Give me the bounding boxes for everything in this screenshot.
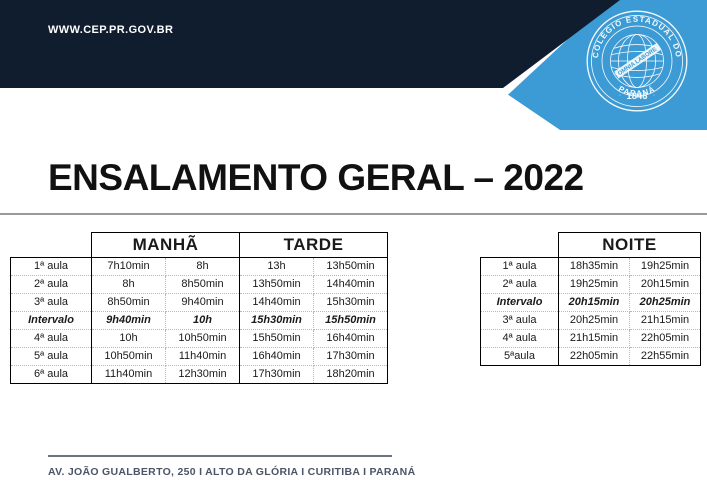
- time-cell: 8h50min: [92, 294, 166, 312]
- time-cell: 16h40min: [314, 330, 388, 348]
- seal-arc-top-text: COLÉGIO ESTADUAL DO: [591, 15, 683, 59]
- time-cell: 21h15min: [630, 312, 701, 330]
- period-header-tarde: TARDE: [240, 233, 388, 258]
- time-cell: 11h40min: [92, 366, 166, 384]
- table-left-head: MANHÃ TARDE: [11, 233, 388, 258]
- time-cell: 20h15min: [559, 294, 630, 312]
- time-cell: 17h30min: [240, 366, 314, 384]
- time-cell: 10h: [92, 330, 166, 348]
- time-cell: 15h50min: [240, 330, 314, 348]
- table-row: 5ª aula10h50min11h40min16h40min17h30min: [11, 348, 388, 366]
- row-label-cell: 4ª aula: [481, 330, 559, 348]
- period-header-noite: NOITE: [559, 233, 701, 258]
- time-cell: 22h05min: [559, 348, 630, 366]
- time-cell: 20h25min: [630, 294, 701, 312]
- time-cell: 14h40min: [240, 294, 314, 312]
- time-cell: 11h40min: [166, 348, 240, 366]
- time-cell: 8h: [166, 258, 240, 276]
- time-cell: 18h20min: [314, 366, 388, 384]
- time-cell: 22h55min: [630, 348, 701, 366]
- table-right-corner-cell: [481, 233, 559, 258]
- row-label-cell: 3ª aula: [481, 312, 559, 330]
- table-row: 4ª aula21h15min22h05min: [481, 330, 701, 348]
- time-cell: 20h25min: [559, 312, 630, 330]
- time-cell: 19h25min: [630, 258, 701, 276]
- time-cell: 10h50min: [92, 348, 166, 366]
- table-row: 3ª aula8h50min9h40min14h40min15h30min: [11, 294, 388, 312]
- time-cell: 10h: [166, 312, 240, 330]
- title-block: ENSALAMENTO GERAL – 2022: [0, 156, 707, 216]
- table-left-corner-cell: [11, 233, 92, 258]
- header-navy-band: [0, 0, 620, 88]
- table-row: 6ª aula11h40min12h30min17h30min18h20min: [11, 366, 388, 384]
- row-label-cell: 2ª aula: [481, 276, 559, 294]
- time-cell: 9h40min: [166, 294, 240, 312]
- table-row: 2ª aula8h8h50min13h50min14h40min: [11, 276, 388, 294]
- page-title: ENSALAMENTO GERAL – 2022: [48, 156, 584, 200]
- time-cell: 20h15min: [630, 276, 701, 294]
- table-row: 3ª aula20h25min21h15min: [481, 312, 701, 330]
- table-left-body: 1ª aula7h10min8h13h13h50min2ª aula8h8h50…: [11, 258, 388, 384]
- table-row: Intervalo9h40min10h15h30min15h50min: [11, 312, 388, 330]
- time-cell: 7h10min: [92, 258, 166, 276]
- site-url-label: WWW.CEP.PR.GOV.BR: [48, 24, 173, 36]
- seal-dot-left: ·: [619, 90, 621, 99]
- table-row: 1ª aula18h35min19h25min: [481, 258, 701, 276]
- table-row: 4ª aula10h10h50min15h50min16h40min: [11, 330, 388, 348]
- row-label-cell: 3ª aula: [11, 294, 92, 312]
- time-cell: 12h30min: [166, 366, 240, 384]
- row-label-cell: 5ª aula: [11, 348, 92, 366]
- time-cell: 19h25min: [559, 276, 630, 294]
- row-label-cell: 1ª aula: [481, 258, 559, 276]
- noite-schedule-table: NOITE 1ª aula18h35min19h25min2ª aula19h2…: [480, 232, 701, 366]
- table-right-head: NOITE: [481, 233, 701, 258]
- time-cell: 15h30min: [240, 312, 314, 330]
- table-row: 2ª aula19h25min20h15min: [481, 276, 701, 294]
- title-divider: [0, 213, 707, 215]
- row-label-cell: 6ª aula: [11, 366, 92, 384]
- time-cell: 8h50min: [166, 276, 240, 294]
- time-cell: 18h35min: [559, 258, 630, 276]
- row-label-cell: 1ª aula: [11, 258, 92, 276]
- time-cell: 22h05min: [630, 330, 701, 348]
- table-row: Intervalo20h15min20h25min: [481, 294, 701, 312]
- row-label-cell: Intervalo: [11, 312, 92, 330]
- time-cell: 17h30min: [314, 348, 388, 366]
- table-left-header-row: MANHÃ TARDE: [11, 233, 388, 258]
- time-cell: 16h40min: [240, 348, 314, 366]
- time-cell: 10h50min: [166, 330, 240, 348]
- time-cell: 9h40min: [92, 312, 166, 330]
- time-cell: 15h30min: [314, 294, 388, 312]
- time-cell: 13h: [240, 258, 314, 276]
- period-header-manha: MANHÃ: [92, 233, 240, 258]
- table-right-body: 1ª aula18h35min19h25min2ª aula19h25min20…: [481, 258, 701, 366]
- seal-dot-right: ·: [653, 90, 655, 99]
- row-label-cell: 4ª aula: [11, 330, 92, 348]
- time-cell: 21h15min: [559, 330, 630, 348]
- table-row: 5ªaula22h05min22h55min: [481, 348, 701, 366]
- time-cell: 13h50min: [240, 276, 314, 294]
- row-label-cell: 5ªaula: [481, 348, 559, 366]
- footer-divider: [48, 455, 392, 457]
- table-right-header-row: NOITE: [481, 233, 701, 258]
- seal-year-text: 1846: [626, 91, 647, 102]
- slide-page: WWW.CEP.PR.GOV.BR: [0, 0, 707, 500]
- table-row: 1ª aula7h10min8h13h13h50min: [11, 258, 388, 276]
- time-cell: 13h50min: [314, 258, 388, 276]
- school-seal-icon: OMNIA LABORE COLÉGIO ESTADUAL DO PARANÁ …: [584, 8, 690, 114]
- manha-tarde-schedule-table: MANHÃ TARDE 1ª aula7h10min8h13h13h50min2…: [10, 232, 388, 384]
- row-label-cell: Intervalo: [481, 294, 559, 312]
- time-cell: 8h: [92, 276, 166, 294]
- row-label-cell: 2ª aula: [11, 276, 92, 294]
- time-cell: 14h40min: [314, 276, 388, 294]
- footer-address-label: AV. JOÃO GUALBERTO, 250 I ALTO DA GLÓRIA…: [48, 466, 415, 478]
- time-cell: 15h50min: [314, 312, 388, 330]
- header-banner: WWW.CEP.PR.GOV.BR: [0, 0, 707, 130]
